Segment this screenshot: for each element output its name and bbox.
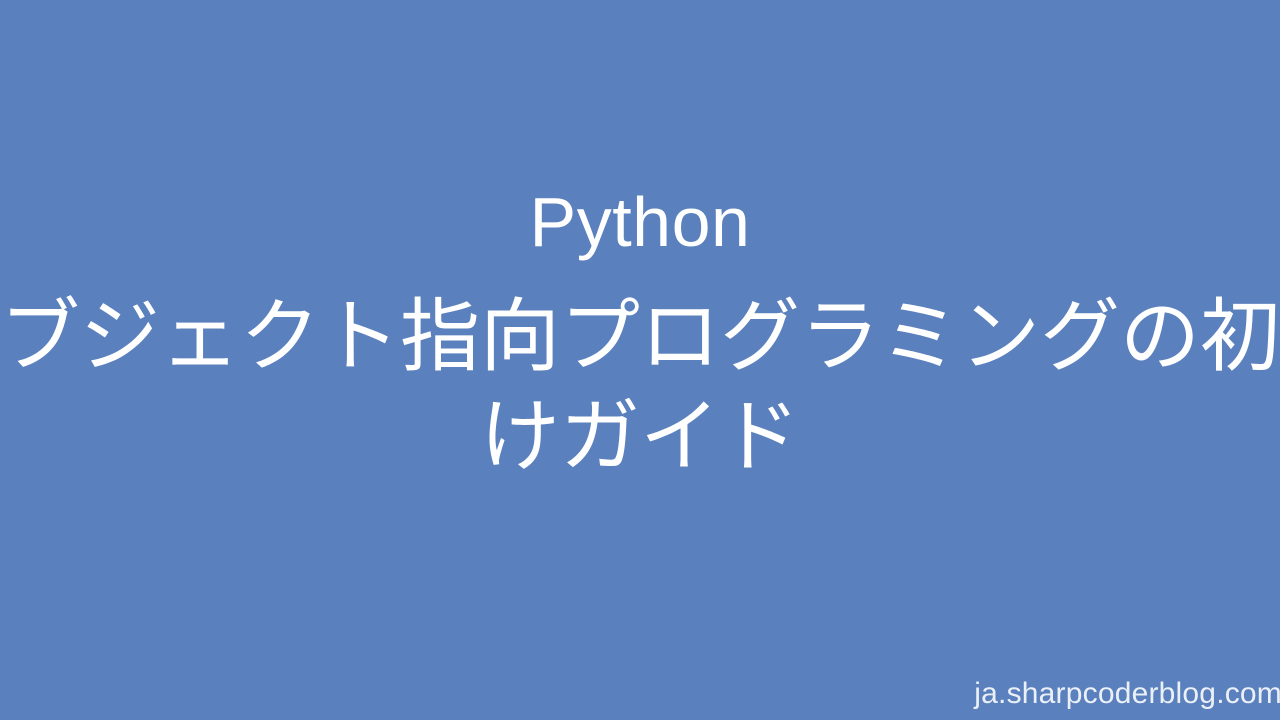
- title-block: Python ブジェクト指向プログラミングの初心者 けガイド: [0, 0, 1280, 720]
- site-watermark: ja.sharpcoderblog.com: [974, 676, 1280, 712]
- page-title-secondary: ブジェクト指向プログラミングの初心者 けガイド: [0, 287, 1280, 487]
- page-title-primary: Python: [530, 187, 751, 257]
- page-title-secondary-line-2: けガイド: [0, 387, 1280, 487]
- title-card-slide: Python ブジェクト指向プログラミングの初心者 けガイド ja.sharpc…: [0, 0, 1280, 720]
- page-title-secondary-line-1: ブジェクト指向プログラミングの初心者: [0, 287, 1280, 387]
